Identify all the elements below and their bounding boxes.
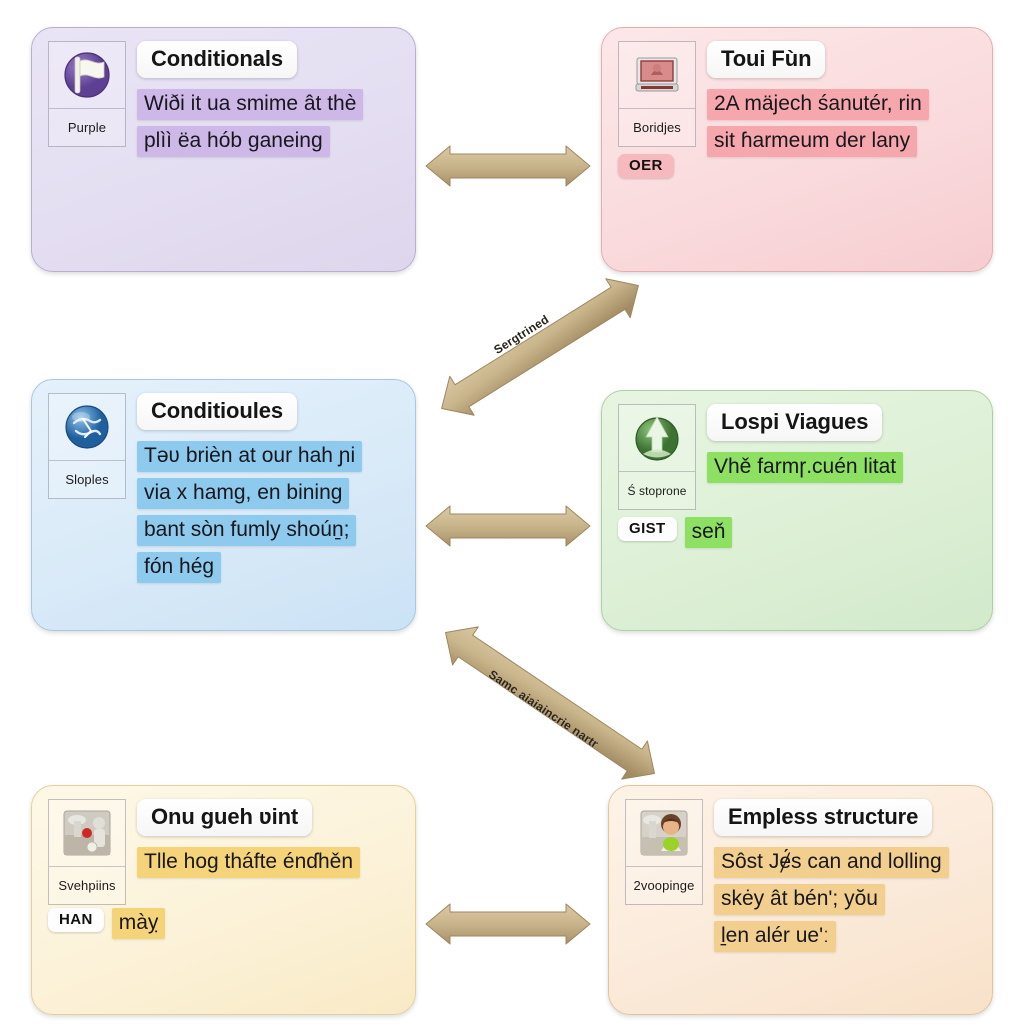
- card-text-column: Conditionals Wiði it ua smime ât thè plì…: [137, 41, 401, 157]
- card-line: plìì ëa hób ganeing: [137, 126, 330, 157]
- card-conditionals-purple[interactable]: Purple Conditionals Wiði it ua smime ât …: [31, 27, 416, 272]
- icon-caption: 2voopinge: [626, 867, 702, 904]
- card-onu-gueh-vint-yellow[interactable]: Svehpiins Onu gueh ʋint Tlle hog tháfte …: [31, 785, 416, 1015]
- arrow-top-horizontal: [424, 144, 592, 188]
- icon-caption: Sloples: [49, 461, 125, 498]
- photo-thumbnail-icon: [626, 800, 702, 867]
- card-toui-fun-red[interactable]: Boridjes OER Toui Fùn 2A mäjech śanutér,…: [601, 27, 993, 272]
- badge-line-row: GIST seň: [618, 517, 732, 548]
- card-line: 2A mäjech śanutér, rin: [707, 89, 929, 120]
- card-line: skėy ât bén'; yŏu: [714, 884, 885, 915]
- card-title: Empless structure: [714, 799, 932, 836]
- arrow-middle-horizontal: [424, 504, 592, 548]
- photo-thumbnail-icon-svg: [61, 807, 113, 859]
- card-icon-column: Purple: [48, 41, 126, 147]
- card-line: seň: [685, 517, 733, 548]
- icon-caption: Boridjes: [619, 109, 695, 146]
- card-line: Təʋ brièn at our hah ɲi: [137, 441, 362, 472]
- card-icon-column: Boridjes OER: [618, 41, 696, 178]
- card-empless-structure-orange[interactable]: 2voopinge Empless structure Sôst Jɇ́s ca…: [608, 785, 993, 1015]
- card-text-column: Onu gueh ʋint Tlle hog tháfte énɗhěn: [137, 799, 401, 884]
- card-text-column: Toui Fùn 2A mäjech śanutér, rin sit ɦarm…: [707, 41, 978, 157]
- card-line: Tlle hog tháfte énɗhěn: [137, 847, 360, 878]
- card-line: via x hamg, en bining: [137, 478, 349, 509]
- diagram-canvas: Sergtrined Samc aiaiaincrie nartr: [0, 0, 1024, 1024]
- card-text-column: Conditioules Təʋ brièn at our hah ɲi via…: [137, 393, 401, 583]
- card-icon-column: 2voopinge: [625, 799, 703, 905]
- card-line: màỵ: [112, 908, 166, 939]
- card-line: Wiði it ua smime ât thè: [137, 89, 363, 120]
- photo-thumbnail-icon-svg: [638, 807, 690, 859]
- card-text-column: Lospi Viagues Vhě farmɼ.cuén litat: [707, 404, 978, 489]
- green-arrow-tree-icon: [619, 405, 695, 472]
- card-line: Sôst Jɇ́s can and lolling: [714, 847, 949, 878]
- purple-flag-icon: [49, 42, 125, 109]
- icon-caption: Svehpiins: [49, 867, 125, 904]
- status-badge: OER: [618, 154, 674, 178]
- status-badge: GIST: [618, 517, 677, 541]
- card-title: Toui Fùn: [707, 41, 825, 78]
- icon-frame: Ś stoprone: [618, 404, 696, 510]
- card-title: Conditionals: [137, 41, 297, 78]
- scanner-box-icon: [619, 42, 695, 109]
- icon-caption: Ś stoprone: [619, 472, 695, 509]
- arrow-bottom-horizontal: [424, 902, 592, 946]
- icon-frame: Sloples: [48, 393, 126, 499]
- card-title: Conditioules: [137, 393, 297, 430]
- card-text-column: Empless structure Sôst Jɇ́s can and loll…: [714, 799, 978, 952]
- card-title: Lospi Viagues: [707, 404, 882, 441]
- card-lospi-viagues-green[interactable]: Ś stoprone Lospi Viagues Vhě farmɼ.cuén …: [601, 390, 993, 631]
- card-conditioules-blue[interactable]: Sloples Conditioules Təʋ brièn at our ha…: [31, 379, 416, 631]
- green-arrow-tree-icon-svg: [631, 412, 683, 464]
- scanner-box-icon-svg: [631, 49, 683, 101]
- arrow-diagonal-lower: Samc aiaiaincrie nartr: [420, 618, 680, 788]
- icon-frame: Boridjes: [618, 41, 696, 147]
- blue-globe-icon: [49, 394, 125, 461]
- card-line: bant sòn fumly shoúṉ;: [137, 515, 356, 546]
- card-line: fón hég: [137, 552, 221, 583]
- blue-globe-icon-svg: [61, 401, 113, 453]
- card-icon-column: Sloples: [48, 393, 126, 499]
- photo-thumbnail-icon: [49, 800, 125, 867]
- icon-frame: Purple: [48, 41, 126, 147]
- card-line: ḻen alér ue'ː: [714, 921, 836, 952]
- card-icon-column: Svehpiins: [48, 799, 126, 905]
- icon-frame: 2voopinge: [625, 799, 703, 905]
- card-icon-column: Ś stoprone: [618, 404, 696, 510]
- status-badge: HAN: [48, 908, 104, 932]
- card-line: sit ɦarmeum der lany: [707, 126, 917, 157]
- purple-flag-icon-svg: [61, 49, 113, 101]
- icon-caption: Purple: [49, 109, 125, 146]
- card-line: Vhě farmɼ.cuén litat: [707, 452, 903, 483]
- icon-frame: Svehpiins: [48, 799, 126, 905]
- badge-line-row: HAN màỵ: [48, 908, 165, 939]
- card-title: Onu gueh ʋint: [137, 799, 312, 836]
